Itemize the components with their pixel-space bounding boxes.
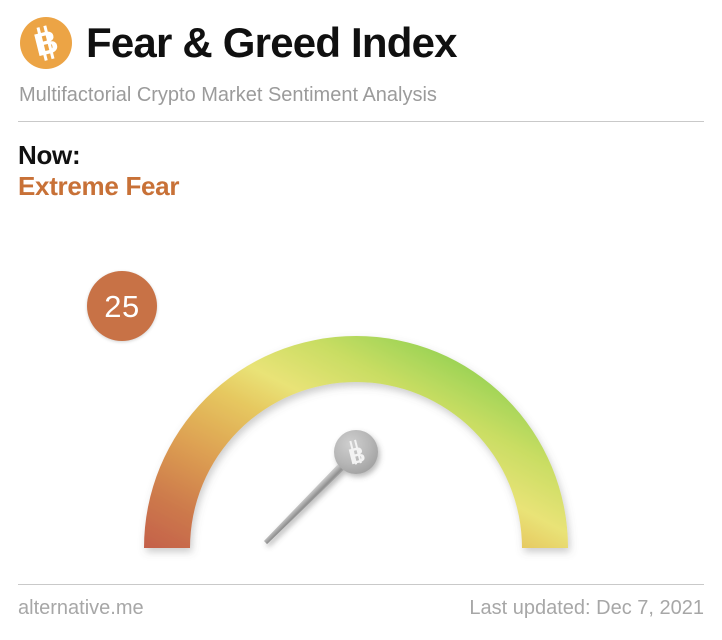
gauge-value-text: 25 — [104, 291, 139, 322]
gauge-value-badge: 25 — [87, 271, 157, 341]
gauge-needle: B — [262, 430, 378, 546]
page-title: Fear & Greed Index — [86, 22, 457, 64]
status-value: Extreme Fear — [18, 171, 179, 202]
footer: alternative.me Last updated: Dec 7, 2021 — [18, 598, 704, 618]
header: B Fear & Greed Index Multifactorial Cryp… — [18, 10, 704, 110]
last-updated-label: Last updated: Dec 7, 2021 — [469, 598, 704, 618]
status-block: Now: Extreme Fear — [18, 140, 179, 201]
gauge-chart: B — [0, 214, 722, 574]
status-label: Now: — [18, 140, 179, 171]
header-divider — [18, 121, 704, 122]
source-link[interactable]: alternative.me — [18, 598, 144, 618]
bitcoin-icon: B — [20, 17, 72, 69]
footer-divider — [18, 584, 704, 585]
fear-greed-index-widget: B Fear & Greed Index Multifactorial Cryp… — [0, 0, 722, 640]
title-row: B Fear & Greed Index — [18, 10, 704, 76]
page-subtitle: Multifactorial Crypto Market Sentiment A… — [19, 85, 704, 105]
